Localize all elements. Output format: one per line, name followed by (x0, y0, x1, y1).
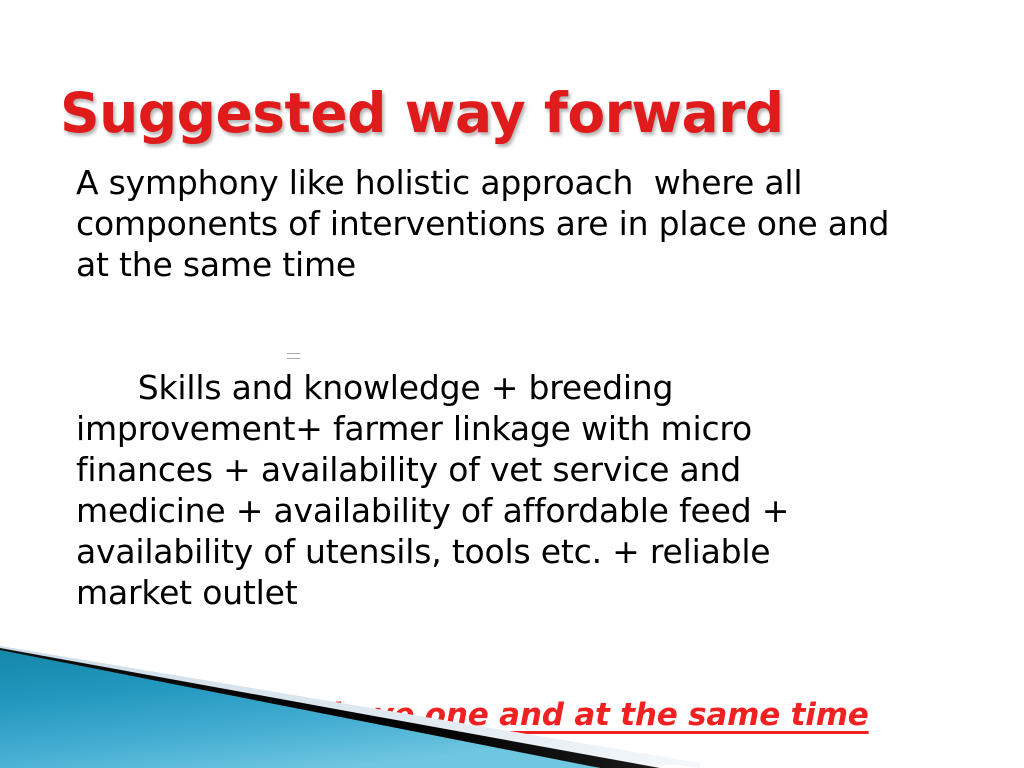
body-paragraph-two: Skills and knowledge + breeding improvem… (76, 326, 876, 695)
body-paragraph-two-text: Skills and knowledge + breeding improvem… (76, 368, 800, 612)
emphasis-statement: Handling the above one and at the same t… (76, 695, 976, 736)
slide-body: A symphony like holistic approach where … (76, 162, 976, 736)
paragraph-spacer (76, 285, 976, 326)
edit-underline-artifact-icon (287, 353, 300, 359)
page-title: Suggested way forward (60, 85, 960, 143)
slide-canvas: Suggested way forward A symphony like ho… (0, 0, 1024, 768)
body-paragraph-one: A symphony like holistic approach where … (76, 162, 921, 285)
